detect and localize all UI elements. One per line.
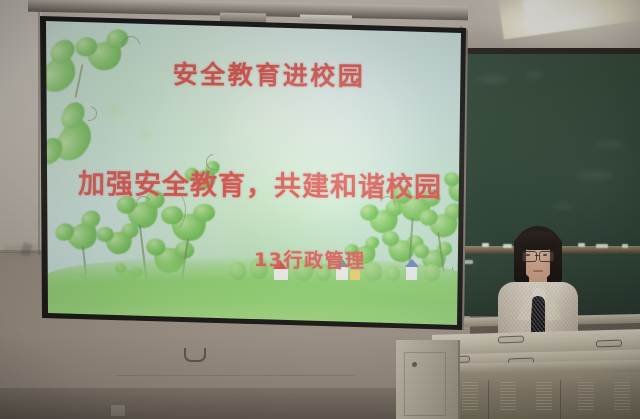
projection-screen: 安全教育进校园 加强安全教育，共建和谐校园 13行政管理 [36, 12, 468, 332]
presenter [488, 226, 588, 341]
lectern-panel [404, 352, 446, 416]
desk-vent [536, 382, 552, 412]
desk-vent [500, 382, 516, 412]
desk-vent [614, 382, 630, 412]
heart-leaf-icon [85, 38, 125, 73]
heart-leaf-icon [105, 230, 134, 255]
bokeh-dot [246, 230, 255, 239]
bokeh-dot [140, 130, 150, 140]
chalk-piece [596, 244, 608, 248]
wall-horizontal-line [115, 375, 355, 376]
glasses-bridge [535, 255, 539, 256]
desk-vent [578, 382, 594, 412]
hair-bangs [518, 231, 558, 250]
desk-panel-seam [488, 380, 489, 419]
lectern-knob-icon [412, 362, 417, 367]
heart-leaf-icon [428, 211, 461, 240]
mouth [533, 270, 543, 272]
bokeh-dot [106, 102, 122, 118]
slide-subtitle: 加强安全教育，共建和谐校园 [60, 162, 460, 205]
vine-stem [74, 64, 83, 98]
chalk-piece [622, 244, 628, 248]
heart-leaf-icon [368, 208, 400, 236]
screen-surface: 安全教育进校园 加强安全教育，共建和谐校园 13行政管理 [36, 12, 468, 332]
wall-hook-icon [184, 348, 206, 362]
heart-leaf-icon [50, 114, 99, 167]
cartoon-tree-icon [230, 262, 246, 280]
desk-clip-icon [596, 340, 622, 348]
presentation-slide: 安全教育进校园 加强安全教育，共建和谐校园 13行政管理 [44, 18, 464, 330]
slide-title: 安全教育进校园 [144, 55, 394, 94]
desk-clip-icon [498, 336, 524, 344]
desk-vent [462, 382, 478, 412]
desk-panel-seam [560, 380, 561, 419]
slide-byline: 13行政管理 [254, 245, 434, 274]
glasses-lens-left [522, 251, 537, 262]
chalkboard [456, 54, 640, 250]
glasses-lens-right [539, 251, 554, 262]
classroom-scene: 安全教育进校园 加强安全教育，共建和谐校园 13行政管理 [0, 0, 640, 419]
